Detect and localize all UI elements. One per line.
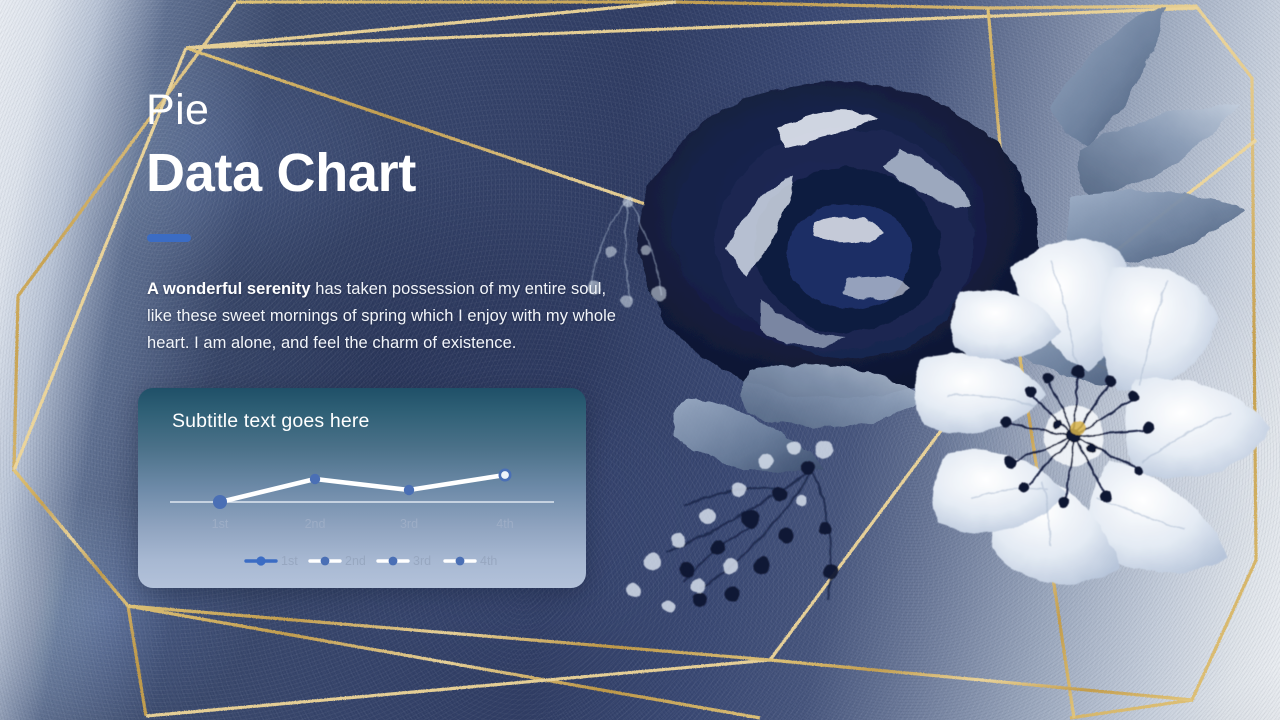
body-lead-text: A wonderful serenity: [147, 280, 311, 298]
body-paragraph: A wonderful serenity has taken possessio…: [147, 276, 627, 357]
accent-underline-bar: [147, 234, 191, 242]
chart-point-4th: [500, 470, 510, 480]
chart-point-3rd: [404, 485, 414, 495]
chart-series-line: [220, 475, 505, 502]
legend-item-3rd[interactable]: 3rd: [378, 554, 431, 568]
chart-point-1st: [213, 495, 227, 509]
page-title: Data Chart: [146, 143, 416, 203]
chart-xtick-2nd: 2nd: [305, 517, 326, 531]
watercolor-floral-artwork: [580, 0, 1280, 720]
slide-canvas: Pie Data Chart A wonderful serenity has …: [0, 0, 1280, 720]
chart-legend[interactable]: 1st 2nd 3rd 4th: [246, 554, 497, 568]
chart-xtick-1st: 1st: [212, 517, 229, 531]
chart-xtick-4th: 4th: [496, 517, 513, 531]
legend-label-2nd: 2nd: [345, 554, 366, 568]
legend-label-3rd: 3rd: [413, 554, 431, 568]
chart-card[interactable]: Subtitle text goes here 1st 2nd 3rd 4th: [138, 388, 586, 588]
chart-xtick-3rd: 3rd: [400, 517, 418, 531]
chart-point-2nd: [310, 474, 320, 484]
legend-item-1st[interactable]: 1st: [246, 554, 298, 568]
page-kicker: Pie: [146, 88, 209, 133]
chart-card-title: Subtitle text goes here: [172, 410, 370, 433]
legend-label-1st: 1st: [281, 554, 298, 568]
legend-item-2nd[interactable]: 2nd: [310, 554, 366, 568]
legend-item-4th[interactable]: 4th: [445, 554, 497, 568]
legend-label-4th: 4th: [480, 554, 497, 568]
line-chart[interactable]: 1st 2nd 3rd 4th 1st 2nd: [138, 448, 586, 588]
